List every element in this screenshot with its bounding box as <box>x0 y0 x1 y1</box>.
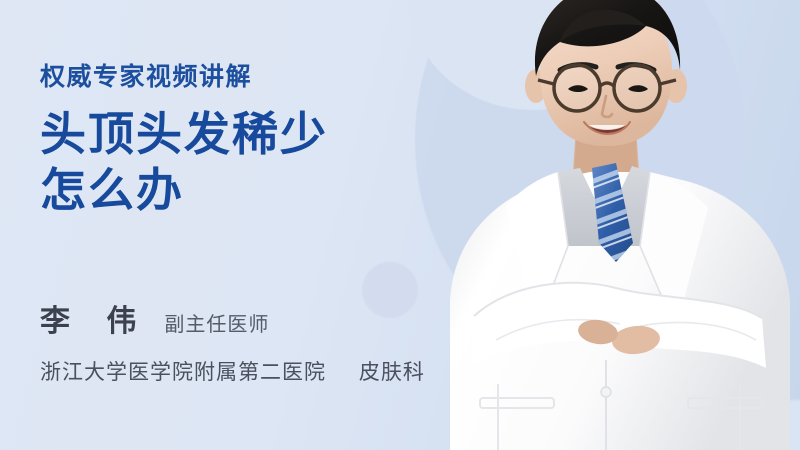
headline-line-2: 怎么办 <box>40 162 470 218</box>
doctor-credit-group: 李 伟 副主任医师 浙江大学医学院附属第二医院 皮肤科 <box>40 296 425 386</box>
page-title: 头顶头发稀少 怎么办 <box>40 106 470 218</box>
doctor-affiliation-row: 浙江大学医学院附属第二医院 皮肤科 <box>40 356 425 386</box>
doctor-professional-title: 副主任医师 <box>164 308 269 337</box>
eyebrow-text: 权威专家视频讲解 <box>40 64 470 92</box>
doctor-portrait <box>440 0 800 450</box>
doctor-name-row: 李 伟 副主任医师 <box>40 296 425 340</box>
doctor-name: 李 伟 <box>40 296 150 340</box>
headline-line-1: 头顶头发稀少 <box>40 106 470 162</box>
doctor-department: 皮肤科 <box>359 361 425 384</box>
video-cover-canvas: 权威专家视频讲解 头顶头发稀少 怎么办 李 伟 副主任医师 浙江大学医学院附属第… <box>0 0 800 450</box>
doctor-hospital: 浙江大学医学院附属第二医院 <box>40 361 326 384</box>
headline-group: 权威专家视频讲解 头顶头发稀少 怎么办 <box>40 64 470 218</box>
